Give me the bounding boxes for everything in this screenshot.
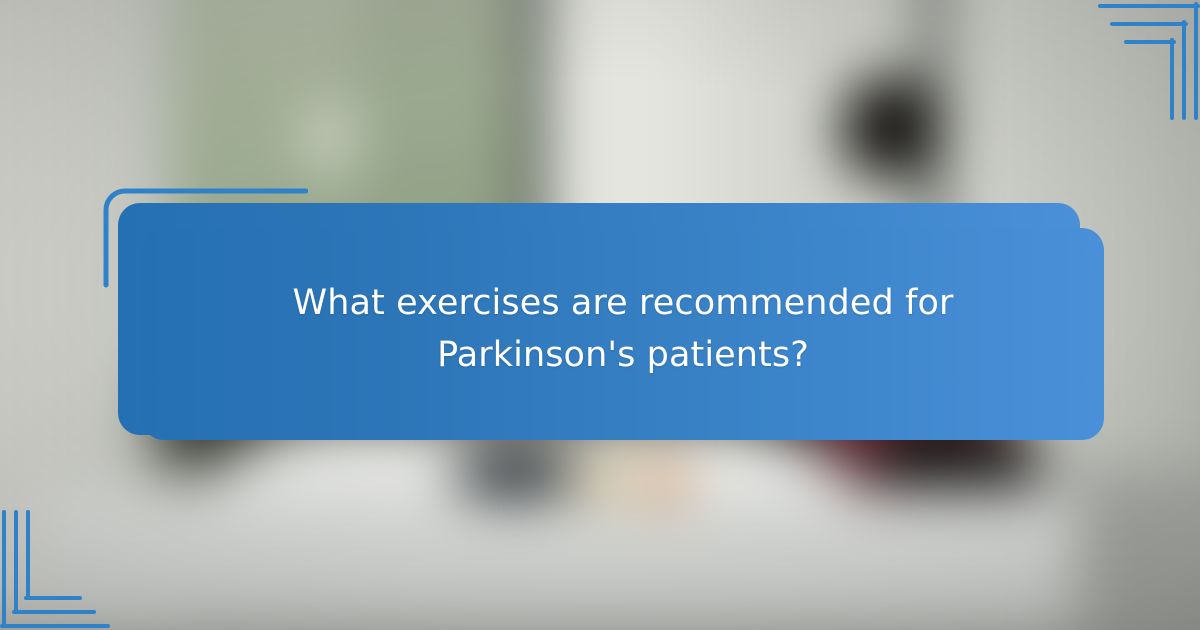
photo-person-head — [842, 77, 940, 178]
photo-table-object-yellow — [577, 456, 628, 501]
page-title: What exercises are recommended for Parki… — [193, 278, 1053, 382]
photo-table-object-orange — [642, 460, 687, 502]
corner-top-right-icon — [1000, 0, 1200, 120]
corner-bottom-left-icon — [0, 510, 200, 630]
promo-card-stage: What exercises are recommended for Parki… — [0, 0, 1200, 630]
headline-line-2: Parkinson's patients? — [193, 330, 1053, 382]
photo-highlight — [309, 103, 354, 177]
photo-table-object-dark — [452, 448, 579, 499]
question-card: What exercises are recommended for Parki… — [142, 228, 1104, 440]
headline-line-1: What exercises are recommended for — [293, 283, 954, 323]
